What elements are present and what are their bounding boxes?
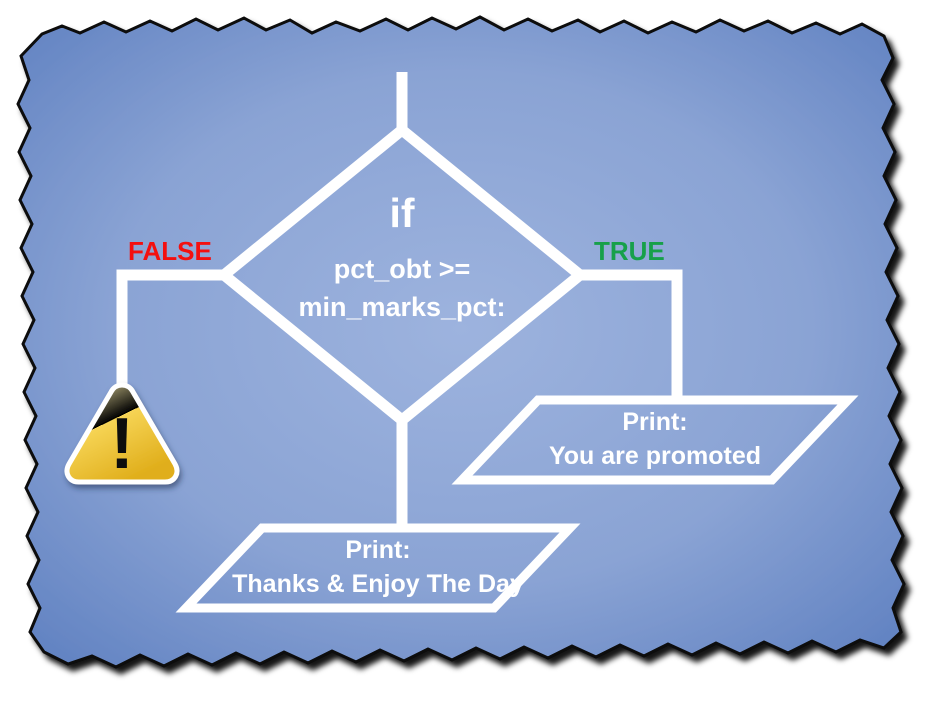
warning-exclamation-glyph: !	[110, 404, 134, 484]
branch-label-true: TRUE	[594, 236, 665, 266]
print-thanks-line2: Thanks & Enjoy The Day	[232, 570, 524, 598]
decision-expression-line2: min_marks_pct:	[298, 292, 505, 322]
diagram-canvas: if pct_obt >= min_marks_pct: FALSE TRUE …	[0, 0, 925, 709]
decision-keyword: if	[389, 190, 414, 236]
print-promoted-line2: You are promoted	[549, 442, 761, 470]
decision-expression-line1: pct_obt >=	[334, 254, 471, 284]
print-promoted-line1: Print:	[622, 408, 687, 436]
print-thanks-line1: Print:	[345, 536, 410, 564]
flowchart-svg: if pct_obt >= min_marks_pct: FALSE TRUE …	[0, 0, 925, 709]
branch-label-false: FALSE	[128, 236, 212, 266]
